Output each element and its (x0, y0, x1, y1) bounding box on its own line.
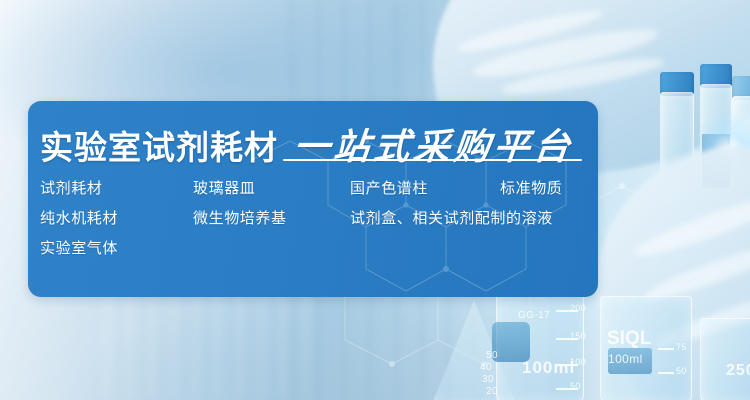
beaker-brand-label: SIQL (607, 328, 651, 350)
category-item[interactable]: 试剂盒、相关试剂配制的溶液 (350, 207, 553, 228)
category-item[interactable]: 玻璃器皿 (193, 177, 255, 198)
graduation-mark (658, 372, 674, 374)
beaker-volume-label: 100ml (608, 352, 643, 366)
promo-panel: 实验室试剂耗材 一站式采购平台 试剂耗材 玻璃器皿 国产色谱柱 标准物质 纯水机… (28, 101, 598, 297)
headline-underline (283, 159, 582, 161)
promo-banner: 250 APPROX 200 150 100 50 GG-17 100ml 50… (0, 0, 750, 400)
right-beaker-mark: 250 (726, 362, 750, 380)
category-row: 试剂耗材 玻璃器皿 国产色谱柱 标准物质 (40, 177, 600, 207)
category-item[interactable]: 微生物培养基 (193, 207, 287, 228)
category-item[interactable]: 国产色谱柱 (350, 177, 428, 198)
graduation-label: 75 (676, 342, 687, 352)
category-item[interactable]: 标准物质 (500, 177, 562, 198)
flask-mark-30: 30 (482, 374, 494, 385)
flask-mark-20: 20 (486, 386, 498, 397)
graduation-label: 50 (570, 381, 581, 391)
graduation-mark (658, 348, 674, 350)
graduation-label: 50 (676, 366, 687, 376)
headline-calligraphy: 一站式采购平台 (291, 118, 576, 170)
glassware-model-label: GG-17 (518, 310, 550, 321)
category-list: 试剂耗材 玻璃器皿 国产色谱柱 标准物质 纯水机耗材 微生物培养基 试剂盒、相关… (40, 177, 600, 267)
graduation-label: 200 (570, 303, 586, 313)
category-row: 实验室气体 (40, 237, 600, 267)
headline-primary: 实验室试剂耗材 (40, 121, 278, 169)
glassware-volume-label: 100ml (522, 358, 575, 378)
flask-mark-40: 40 (480, 362, 492, 373)
category-item[interactable]: 纯水机耗材 (40, 207, 118, 228)
graduation-label: 150 (570, 331, 586, 341)
banner-headline: 实验室试剂耗材 一站式采购平台 (40, 118, 574, 170)
category-row: 纯水机耗材 微生物培养基 试剂盒、相关试剂配制的溶液 (40, 207, 600, 237)
category-item[interactable]: 实验室气体 (40, 237, 118, 258)
flask-mark-50: 50 (486, 350, 498, 361)
graduated-beaker-tertiary (700, 318, 750, 400)
category-item[interactable]: 试剂耗材 (40, 177, 102, 198)
